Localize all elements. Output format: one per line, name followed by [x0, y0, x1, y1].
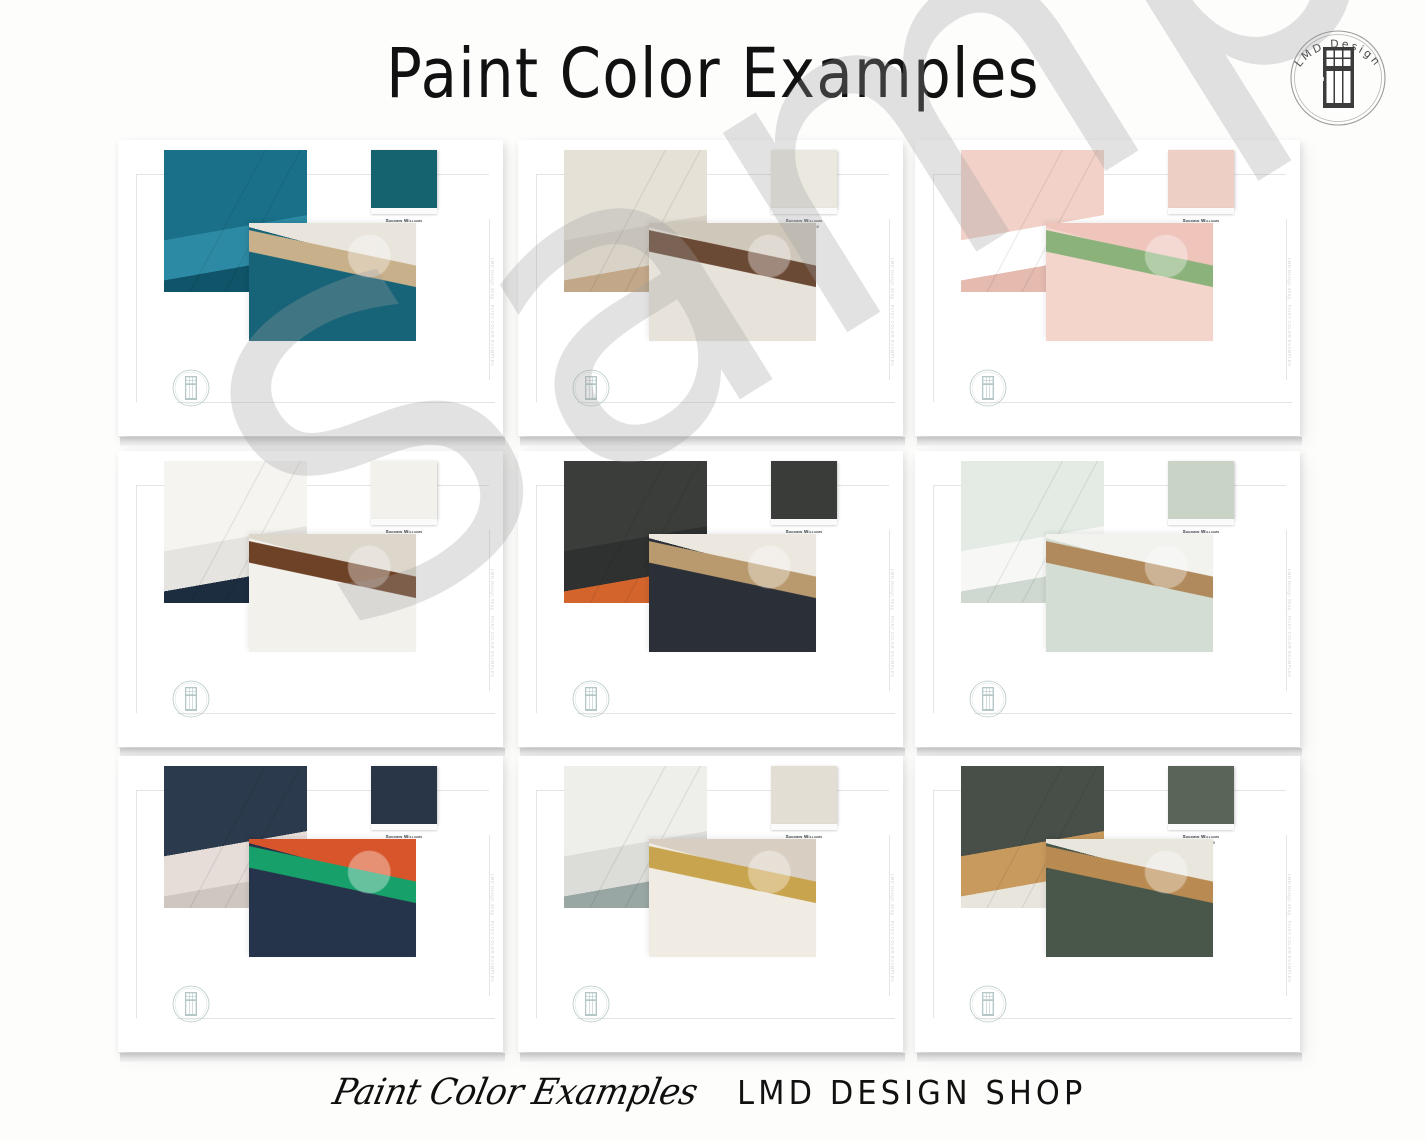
paint-color-card[interactable]: Sherwin Williams Naval 6244 LMD Design S…	[118, 756, 503, 1052]
swatch-base	[371, 208, 437, 214]
swatch-color-chip	[371, 766, 437, 824]
card-sheet: Sherwin Williams Pewter Green 6208 LMD D…	[915, 756, 1300, 1052]
swatch-base	[1168, 824, 1234, 830]
swatch-base	[1168, 208, 1234, 214]
swatch-base	[771, 208, 837, 214]
footer-script-text: Paint Color Examples	[329, 1072, 701, 1113]
mockup-card-grid: Sherwin Williams Oceanside 6496 LMD Desi…	[118, 140, 1318, 1065]
card-sheet: Sherwin Williams Naval 6244 LMD Design S…	[118, 756, 503, 1052]
card-side-text: LMD Design Shop · PAINT COLOR EXAMPLES	[886, 792, 898, 982]
card-sheet: Sherwin Williams Romance 6323 LMD Design…	[915, 140, 1300, 436]
footer-brand-text: LMD DESIGN SHOP	[738, 1073, 1087, 1112]
craftsman-door-icon	[1322, 47, 1355, 108]
card-sheet: Sherwin Williams Drift of Mist 9166 LMD …	[518, 756, 903, 1052]
card-stack-shadow	[520, 437, 905, 446]
card-brand-logo	[168, 364, 214, 410]
card-stack-shadow	[917, 437, 1302, 446]
room-photo-secondary	[1046, 534, 1213, 652]
swatch-color-chip	[1168, 461, 1234, 519]
page-header: Paint Color Examples LMD Design Shop	[0, 0, 1426, 140]
card-sheet: Sherwin Williams Iron Ore 7069 LMD Desig…	[518, 451, 903, 747]
card-sheet: Sherwin Williams Natural Choice 7011 LMD…	[518, 140, 903, 436]
card-side-text: LMD Design Shop · PAINT COLOR EXAMPLES	[886, 487, 898, 677]
brand-logo: LMD Design Shop	[1278, 16, 1398, 136]
card-brand-logo	[965, 364, 1011, 410]
paint-color-card[interactable]: Sherwin Williams Sea Salt 6204 LMD Desig…	[915, 451, 1300, 747]
card-side-text: LMD Design Shop · PAINT COLOR EXAMPLES	[1283, 792, 1295, 982]
card-sheet: Sherwin Williams Sea Salt 6204 LMD Desig…	[915, 451, 1300, 747]
swatch-base	[1168, 519, 1234, 525]
swatch-color-chip	[371, 461, 437, 519]
card-side-text: LMD Design Shop · PAINT COLOR EXAMPLES	[886, 176, 898, 366]
paint-color-card[interactable]: Sherwin Williams Iron Ore 7069 LMD Desig…	[518, 451, 903, 747]
card-side-text: LMD Design Shop · PAINT COLOR EXAMPLES	[486, 487, 498, 677]
paint-color-card[interactable]: Sherwin Williams Pure White 7005 LMD Des…	[118, 451, 503, 747]
card-side-text: LMD Design Shop · PAINT COLOR EXAMPLES	[486, 792, 498, 982]
swatch-color-chip	[371, 150, 437, 208]
room-photo-secondary	[649, 839, 816, 957]
card-brand-logo	[168, 980, 214, 1026]
swatch-base	[771, 519, 837, 525]
swatch-color-chip	[771, 766, 837, 824]
card-brand-logo	[568, 980, 614, 1026]
swatch-color-chip	[771, 461, 837, 519]
swatch-base	[371, 519, 437, 525]
card-sheet: Sherwin Williams Pure White 7005 LMD Des…	[118, 451, 503, 747]
room-photo-secondary	[1046, 839, 1213, 957]
paint-color-card[interactable]: Sherwin Williams Drift of Mist 9166 LMD …	[518, 756, 903, 1052]
card-side-text: LMD Design Shop · PAINT COLOR EXAMPLES	[1283, 176, 1295, 366]
card-side-text: LMD Design Shop · PAINT COLOR EXAMPLES	[486, 176, 498, 366]
card-brand-logo	[568, 364, 614, 410]
swatch-base	[371, 824, 437, 830]
card-brand-logo	[168, 675, 214, 721]
room-photo-secondary	[1046, 223, 1213, 341]
paint-color-card[interactable]: Sherwin Williams Oceanside 6496 LMD Desi…	[118, 140, 503, 436]
swatch-base	[771, 824, 837, 830]
room-photo-secondary	[249, 223, 416, 341]
swatch-color-chip	[1168, 766, 1234, 824]
paint-color-card[interactable]: Sherwin Williams Pewter Green 6208 LMD D…	[915, 756, 1300, 1052]
card-sheet: Sherwin Williams Oceanside 6496 LMD Desi…	[118, 140, 503, 436]
card-stack-shadow	[120, 437, 505, 446]
room-photo-secondary	[249, 839, 416, 957]
page-footer: Paint Color Examples LMD DESIGN SHOP	[0, 1057, 1426, 1127]
swatch-color-chip	[1168, 150, 1234, 208]
paint-color-card[interactable]: Sherwin Williams Romance 6323 LMD Design…	[915, 140, 1300, 436]
room-photo-secondary	[249, 534, 416, 652]
swatch-color-chip	[771, 150, 837, 208]
paint-color-card[interactable]: Sherwin Williams Natural Choice 7011 LMD…	[518, 140, 903, 436]
card-brand-logo	[568, 675, 614, 721]
card-side-text: LMD Design Shop · PAINT COLOR EXAMPLES	[1283, 487, 1295, 677]
room-photo-secondary	[649, 223, 816, 341]
room-photo-secondary	[649, 534, 816, 652]
card-brand-logo	[965, 675, 1011, 721]
card-brand-logo	[965, 980, 1011, 1026]
page-title: Paint Color Examples	[100, 34, 1326, 114]
